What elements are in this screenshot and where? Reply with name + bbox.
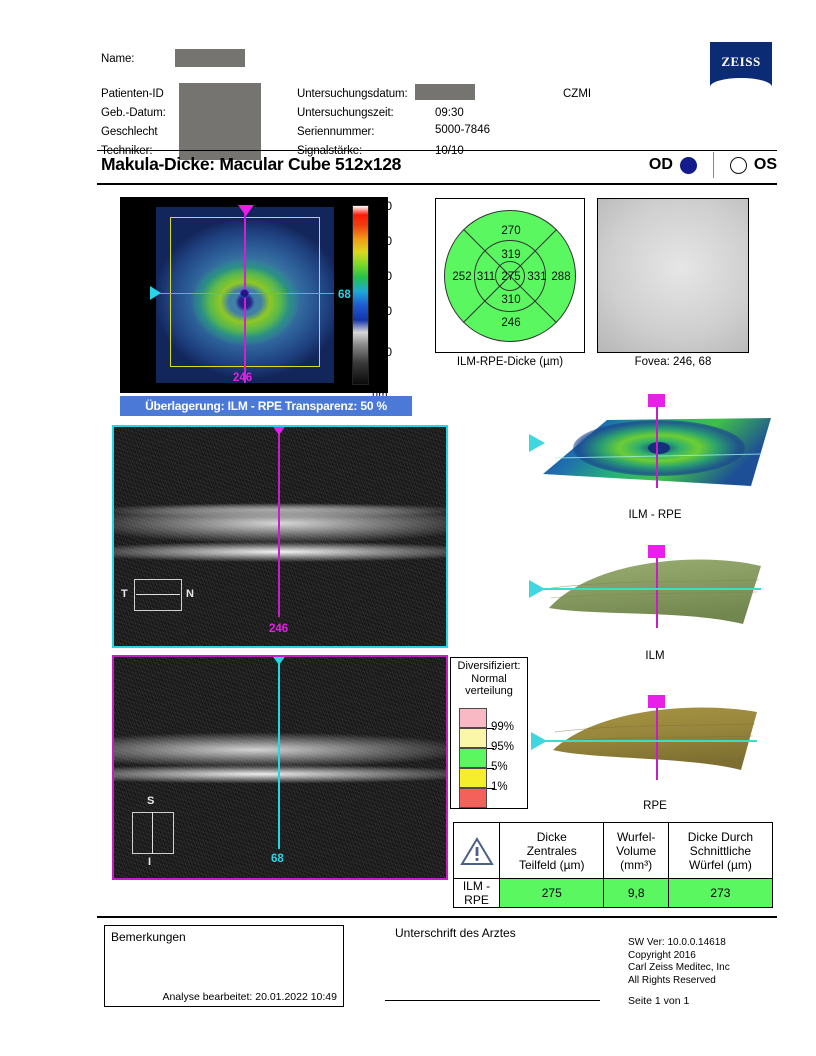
vertical-bscan[interactable]: S I 68 (112, 655, 448, 880)
normative-swatches (459, 708, 487, 808)
cell-average-thickness: 273 (668, 879, 772, 908)
normative-pct-99: 99% (491, 721, 514, 733)
etdrs-inner-temporal: 311 (477, 271, 495, 283)
copyright: Copyright 2016 (628, 950, 730, 963)
normative-title-line1: Diversifiziert: (451, 660, 527, 673)
field-label-patient-id: Patienten-ID (101, 88, 164, 100)
colorbar-tick-400: 400 (372, 234, 392, 248)
bscan-top-marker-icon (271, 425, 287, 435)
column-header-average-thickness: Dicke Durch Schnittliche Würfel (µm) (668, 823, 772, 879)
orientation-label-temporal: T (121, 588, 128, 600)
signature-label: Unterschrift des Arztes (395, 926, 516, 940)
normative-band-1 (459, 768, 487, 788)
fovea-marker (240, 289, 249, 298)
surface-position-pin (648, 545, 665, 558)
horizontal-bscan-number: 246 (269, 623, 288, 635)
thickness-map-panel[interactable]: 246 68 500 400 300 200 100 0 µm (120, 197, 388, 393)
normative-pct-5: 5% (491, 761, 508, 773)
normative-title-line2: Normal (451, 673, 527, 686)
table-row: ILM - RPE 275 9,8 273 (454, 879, 773, 908)
field-label-exam-time: Untersuchungszeit: (297, 107, 394, 119)
redacted-exam-date (415, 84, 475, 100)
surface-vertical-line (656, 552, 658, 628)
summary-table: Dicke Zentrales Teilfeld (µm) Wurfel- Vo… (453, 822, 773, 908)
orientation-label-inferior: I (148, 856, 151, 868)
field-label-birthdate: Geb.-Datum: (101, 107, 166, 119)
rights-reserved: All Rights Reserved (628, 975, 730, 988)
bscan-position-line-vertical (278, 427, 280, 617)
redacted-name (175, 49, 245, 67)
title-divider (97, 183, 777, 185)
normative-pct-95: 95% (491, 741, 514, 753)
os-label: OS (754, 156, 777, 174)
field-label-gender: Geschlecht (101, 126, 158, 138)
signature-line (385, 1000, 600, 1001)
surface-horizontal-marker-icon (531, 732, 547, 750)
etdrs-grid: 270 246 252 288 319 310 311 331 275 (444, 210, 576, 342)
fundus-caption: Fovea: 246, 68 (597, 356, 749, 368)
field-label-serial: Seriennummer: (297, 126, 374, 138)
orientation-arrow-horizontal (136, 594, 180, 595)
software-info: SW Ver: 10.0.0.14618 Copyright 2016 Carl… (628, 937, 730, 987)
surface-horizontal-line (543, 588, 761, 590)
retina-layers (114, 427, 446, 646)
surface-ilm (535, 540, 775, 640)
zeiss-logo-text: ZEISS (721, 54, 760, 70)
normative-band-low (459, 788, 487, 808)
eye-selector: OD OS (649, 152, 777, 178)
orientation-label-nasal: N (186, 588, 194, 600)
remarks-label: Bemerkungen (111, 930, 186, 944)
normative-band-99 (459, 708, 487, 728)
column-header-central-thickness: Dicke Zentrales Teilfeld (µm) (500, 823, 604, 879)
field-label-name: Name: (101, 53, 134, 65)
col1-line3: Teilfeld (µm) (500, 858, 603, 872)
etdrs-outer-superior: 270 (501, 225, 520, 237)
warning-triangle-icon (460, 836, 494, 866)
normative-pct-1: 1% (491, 781, 508, 793)
footer-divider (97, 916, 777, 918)
redacted-patient-block (179, 83, 261, 160)
field-label-exam-date: Untersuchungsdatum: (297, 88, 408, 100)
orientation-arrow-vertical (152, 812, 153, 854)
etdrs-inner-inferior: 310 (501, 294, 520, 306)
etdrs-outer-temporal: 252 (452, 271, 471, 283)
analysis-timestamp: Analyse bearbeitet: 20.01.2022 10:49 (162, 991, 337, 1003)
surface-horizontal-marker-icon (529, 580, 545, 598)
thickness-colorbar (352, 205, 369, 385)
horizontal-bscan[interactable]: T N 246 (112, 425, 448, 648)
sw-version: SW Ver: 10.0.0.14618 (628, 937, 730, 950)
horizontal-scan-number: 68 (338, 289, 351, 301)
surface-horizontal-marker-icon (529, 434, 545, 452)
row-label-ilm-rpe: ILM - RPE (454, 879, 500, 908)
thickness-map-image (156, 207, 334, 383)
colorbar-tick-200: 200 (372, 304, 392, 318)
normative-legend-title: Diversifiziert: Normal verteilung (451, 660, 527, 698)
normative-band-5 (459, 748, 487, 768)
colorbar-tick-500: 500 (372, 199, 392, 213)
surface-position-pin (648, 695, 665, 708)
etdrs-inner-superior: 319 (501, 249, 520, 261)
colorbar-tick-300: 300 (372, 269, 392, 283)
field-value-exam-time: 09:30 (435, 107, 464, 119)
etdrs-grid-panel: 270 246 252 288 319 310 311 331 275 (435, 198, 585, 353)
remarks-box[interactable]: Bemerkungen Analyse bearbeitet: 20.01.20… (104, 925, 344, 1007)
surface-ilm-rpe (535, 398, 775, 503)
vertical-bscan-number: 68 (271, 853, 284, 865)
surface-vertical-line (656, 402, 658, 488)
surface-ilm-rpe-render (535, 398, 775, 503)
col3-line2: Schnittliche (669, 844, 772, 858)
col1-line1: Dicke (500, 830, 603, 844)
surface-horizontal-line (545, 740, 757, 742)
normative-legend: Diversifiziert: Normal verteilung 99% 95… (450, 657, 528, 809)
bscan-top-marker-icon (271, 655, 287, 665)
report-title-bar: Makula-Dicke: Macular Cube 512x128 OD OS (97, 152, 777, 182)
surface-label-ilm: ILM (535, 650, 775, 662)
table-header-row: Dicke Zentrales Teilfeld (µm) Wurfel- Vo… (454, 823, 773, 879)
horizontal-scan-marker-icon[interactable] (150, 286, 161, 300)
col2-line2: Volume (604, 844, 667, 858)
surface-position-pin (648, 394, 665, 407)
col1-line2: Zentrales (500, 844, 603, 858)
etdrs-outer-nasal: 288 (551, 271, 570, 283)
overlay-banner: Überlagerung: ILM - RPE Transparenz: 50 … (120, 396, 412, 416)
vertical-scan-number: 246 (233, 372, 252, 384)
orientation-label-superior: S (147, 795, 154, 807)
overlay-banner-text: Überlagerung: ILM - RPE Transparenz: 50 … (145, 399, 387, 413)
eye-selector-divider (713, 152, 714, 178)
normative-title-line3: verteilung (451, 685, 527, 698)
column-header-cube-volume: Wurfel- Volume (mm³) (604, 823, 668, 879)
patient-header: Name: Patienten-ID Geb.-Datum: Geschlech… (97, 45, 777, 150)
page-title: Makula-Dicke: Macular Cube 512x128 (101, 154, 401, 175)
surface-label-ilm-rpe: ILM - RPE (535, 509, 775, 521)
device-code: CZMI (563, 88, 591, 100)
col2-line3: (mm³) (604, 858, 667, 872)
colorbar-tick-100: 100 (372, 345, 392, 359)
field-value-serial: 5000-7846 (435, 124, 490, 136)
fundus-image[interactable] (597, 198, 749, 353)
etdrs-outer-inferior: 246 (501, 317, 520, 329)
zeiss-logo: ZEISS (710, 42, 772, 87)
os-radio[interactable] (730, 157, 747, 174)
etdrs-center-value: 275 (501, 271, 520, 283)
col3-line1: Dicke Durch (669, 830, 772, 844)
cell-cube-volume: 9,8 (604, 879, 668, 908)
page-number: Seite 1 von 1 (628, 995, 689, 1007)
surface-label-rpe: RPE (535, 800, 775, 812)
col2-line1: Wurfel- (604, 830, 667, 844)
od-label: OD (649, 156, 673, 174)
etdrs-caption: ILM-RPE-Dicke (µm) (435, 356, 585, 368)
normative-band-95 (459, 728, 487, 748)
etdrs-inner-nasal: 331 (527, 271, 546, 283)
surface-rpe (535, 688, 775, 788)
oct-report-page: Name: Patienten-ID Geb.-Datum: Geschlech… (0, 0, 816, 1056)
vertical-scan-marker-icon[interactable] (238, 205, 254, 216)
warning-icon-cell (454, 823, 500, 879)
cell-central-thickness: 275 (500, 879, 604, 908)
bscan-position-line-horizontal (278, 657, 280, 849)
od-radio[interactable] (680, 157, 697, 174)
company-name: Carl Zeiss Meditec, Inc (628, 962, 730, 975)
col3-line3: Würfel (µm) (669, 858, 772, 872)
